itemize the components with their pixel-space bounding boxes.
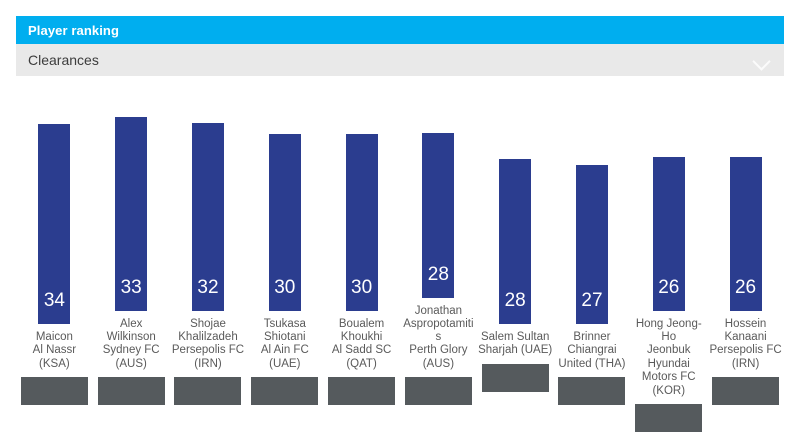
club-item[interactable]: Persepolis FC (IRN) (707, 344, 784, 416)
chevron-down-icon[interactable] (753, 55, 770, 65)
bar-value-label: 32 (197, 278, 218, 311)
player-name-label: Boualem Khoukhi (326, 318, 398, 344)
bar[interactable]: 28 (499, 159, 531, 324)
bar-item[interactable]: 33Alex Wilkinson (93, 76, 170, 344)
club-item[interactable]: Chiangrai United (THA) (554, 344, 631, 416)
club-name-label: Persepolis FC (IRN) (708, 344, 784, 371)
bar-value-label: 26 (735, 278, 756, 311)
player-name-label: Maicon (18, 331, 90, 344)
bar-item[interactable]: 28Jonathan Aspropotamitis (400, 76, 477, 344)
bar-value-label: 28 (505, 291, 526, 324)
player-ranking-widget: Player ranking Clearances 34Maicon33Alex… (16, 16, 784, 416)
club-item[interactable]: Persepolis FC (IRN) (170, 344, 247, 416)
club-name-label: Chiangrai United (THA) (554, 344, 630, 371)
player-name-label: Jonathan Aspropotamitis (402, 305, 474, 344)
club-name-label: Al Nassr (KSA) (16, 344, 92, 371)
bar-item[interactable]: 27Brinner (554, 76, 631, 344)
club-logo-placeholder (405, 377, 472, 405)
club-logo-placeholder (635, 404, 702, 432)
bar-item[interactable]: 26Hossein Kanaani (707, 76, 784, 344)
bar-item[interactable]: 28Salem Sultan (477, 76, 554, 344)
metric-dropdown-value: Clearances (28, 52, 99, 68)
bar-value-label: 26 (658, 278, 679, 311)
bar-value-label: 30 (351, 278, 372, 311)
club-logo-placeholder (98, 377, 165, 405)
club-logo-placeholder (251, 377, 318, 405)
bar-track: 30 (323, 93, 400, 311)
bar[interactable]: 34 (38, 124, 70, 324)
bar-track: 34 (16, 106, 93, 324)
bar[interactable]: 28 (422, 133, 454, 298)
bar-value-label: 28 (428, 265, 449, 298)
club-item[interactable]: Perth Glory (AUS) (400, 344, 477, 416)
club-item[interactable]: Sharjah (UAE) (477, 344, 554, 416)
bar[interactable]: 30 (269, 134, 301, 311)
page-title: Player ranking (28, 23, 119, 38)
bar-value-label: 33 (121, 278, 142, 311)
club-name-label: Jeonbuk Hyundai Motors FC (KOR) (631, 344, 707, 398)
bar-track: 26 (630, 93, 707, 311)
club-name-label: Sharjah (UAE) (477, 344, 553, 358)
player-name-label: Brinner (556, 331, 628, 344)
club-item[interactable]: Al Nassr (KSA) (16, 344, 93, 416)
bar[interactable]: 32 (192, 123, 224, 311)
bar[interactable]: 26 (730, 157, 762, 311)
bar-track: 30 (246, 93, 323, 311)
player-name-label: Salem Sultan (479, 331, 551, 344)
bar-track: 27 (554, 106, 631, 324)
bar[interactable]: 33 (115, 117, 147, 311)
club-item[interactable]: Jeonbuk Hyundai Motors FC (KOR) (630, 344, 707, 416)
player-name-label: Alex Wilkinson (95, 318, 167, 344)
bar-item[interactable]: 32Shojae Khalilzadeh (170, 76, 247, 344)
club-item[interactable]: Al Ain FC (UAE) (246, 344, 323, 416)
bar-item[interactable]: 34Maicon (16, 76, 93, 344)
metric-dropdown[interactable]: Clearances (16, 44, 784, 76)
bar-chart: 34Maicon33Alex Wilkinson32Shojae Khalilz… (16, 76, 784, 344)
bar-item[interactable]: 26Hong Jeong-Ho (630, 76, 707, 344)
club-logo-placeholder (558, 377, 625, 405)
bar[interactable]: 27 (576, 165, 608, 324)
bar[interactable]: 30 (346, 134, 378, 311)
bar-value-label: 27 (581, 291, 602, 324)
club-item[interactable]: Sydney FC (AUS) (93, 344, 170, 416)
club-logo-placeholder (328, 377, 395, 405)
bar-series: 34Maicon33Alex Wilkinson32Shojae Khalilz… (16, 76, 784, 344)
club-logo-placeholder (712, 377, 779, 405)
club-name-label: Perth Glory (AUS) (400, 344, 476, 371)
club-name-label: Al Ain FC (UAE) (247, 344, 323, 371)
player-name-label: Tsukasa Shiotani (249, 318, 321, 344)
bar[interactable]: 26 (653, 157, 685, 311)
club-item[interactable]: Al Sadd SC (QAT) (323, 344, 400, 416)
bar-track: 33 (93, 93, 170, 311)
bar-value-label: 30 (274, 278, 295, 311)
club-logo-placeholder (174, 377, 241, 405)
widget-header: Player ranking (16, 16, 784, 44)
club-logo-placeholder (21, 377, 88, 405)
player-name-label: Shojae Khalilzadeh (172, 318, 244, 344)
bar-track: 32 (170, 93, 247, 311)
bar-item[interactable]: 30Tsukasa Shiotani (246, 76, 323, 344)
player-name-label: Hossein Kanaani (710, 318, 782, 344)
club-name-label: Al Sadd SC (QAT) (324, 344, 400, 371)
bar-item[interactable]: 30Boualem Khoukhi (323, 76, 400, 344)
bar-track: 28 (477, 106, 554, 324)
player-name-label: Hong Jeong-Ho (633, 318, 705, 344)
club-row: Al Nassr (KSA)Sydney FC (AUS)Persepolis … (16, 344, 784, 416)
bar-track: 26 (707, 93, 784, 311)
bar-track: 28 (400, 80, 477, 298)
club-name-label: Persepolis FC (IRN) (170, 344, 246, 371)
club-logo-placeholder (482, 364, 549, 392)
bar-value-label: 34 (44, 291, 65, 324)
club-name-label: Sydney FC (AUS) (93, 344, 169, 371)
